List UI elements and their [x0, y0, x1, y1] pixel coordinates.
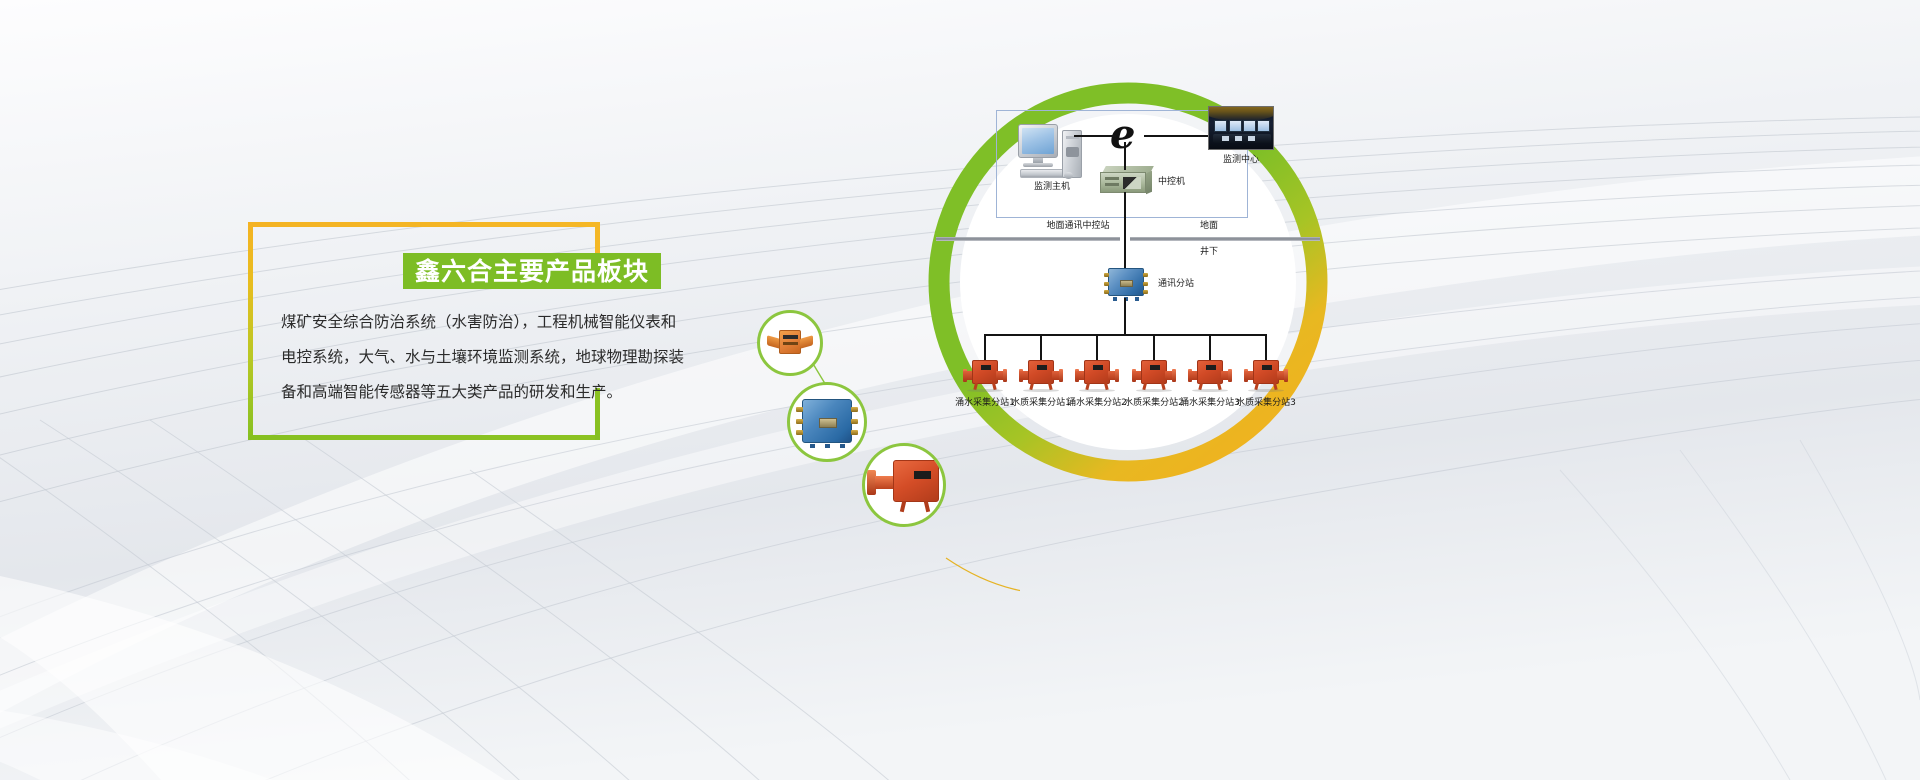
ceiling-light [1208, 106, 1274, 121]
bus-bar [984, 334, 1266, 336]
pc-tower-icon [1062, 130, 1082, 178]
central-control-machine-icon [1100, 166, 1152, 194]
section-title-banner: 鑫六合主要产品板块 [403, 253, 661, 289]
monitor-host-icon [1018, 124, 1084, 180]
product-bubble-orange[interactable] [757, 310, 823, 376]
wall-screen-1 [1214, 120, 1227, 132]
collection-substation-icon [1019, 358, 1063, 392]
description-line-1: 煤矿安全综合防治系统（水害防治），工程机械智能仪表和 [281, 305, 711, 340]
wall-screen-4 [1257, 120, 1270, 132]
label-substation-6: 水质采集分站3 [1236, 399, 1296, 408]
collection-substation-icon [1075, 358, 1119, 392]
connector-knob [1104, 282, 1109, 286]
frame-edge-bottom [248, 435, 600, 440]
wall-screen-2 [1229, 120, 1242, 132]
wall-screen-3 [1243, 120, 1256, 132]
server-side-face [1146, 171, 1152, 194]
blue-device-icon [796, 399, 858, 445]
substation-leg [1113, 297, 1117, 301]
label-central-control-machine: 中控机 [1158, 178, 1185, 187]
wire-drop-5 [1209, 334, 1211, 360]
product-bubble-blue[interactable] [787, 382, 867, 462]
label-monitor-center: 监测中心 [1223, 156, 1259, 165]
communication-substation-icon [1104, 268, 1148, 298]
ground-line-right [1130, 237, 1320, 241]
monitor-center-image [1208, 106, 1274, 150]
label-communication-substation: 通讯分站 [1158, 280, 1194, 289]
page-title: 鑫六合主要产品板块 [415, 259, 649, 284]
wire-network-to-center [1144, 135, 1208, 137]
connector-knob [1104, 290, 1109, 294]
connector-knob [1104, 273, 1109, 277]
wire-drop-3 [1096, 334, 1098, 360]
wire-substation-down [1124, 298, 1126, 336]
label-substation-4: 水质采集分站2 [1124, 399, 1184, 408]
wire-drop-6 [1265, 334, 1267, 360]
product-bubble-red[interactable] [862, 443, 946, 527]
connector-knob [1143, 273, 1148, 277]
wire-host-to-network [1074, 135, 1116, 137]
label-substation-3: 涌水采集分站2 [1067, 399, 1127, 408]
frame-edge-top [248, 222, 600, 227]
red-device-icon [867, 458, 941, 512]
label-ground-station: 地面通讯中控站 [1046, 222, 1109, 231]
label-monitor-host: 监测主机 [1034, 183, 1070, 192]
wire-drop-2 [1040, 334, 1042, 360]
monitor-base [1023, 163, 1053, 167]
label-surface: 地面 [1200, 222, 1218, 231]
substation-body [1108, 268, 1144, 296]
crt-screen-icon [1018, 124, 1058, 158]
collection-substation-icon [1188, 358, 1232, 392]
connector-knob [1143, 290, 1148, 294]
hero-banner: 鑫六合主要产品板块 煤矿安全综合防治系统（水害防治），工程机械智能仪表和 电控系… [0, 0, 1920, 780]
wire-drop-4 [1153, 334, 1155, 360]
frame-edge-left [248, 222, 253, 440]
description-line-2: 电控系统，大气、水与土壤环境监测系统，地球物理勘探装 [281, 340, 711, 375]
orange-device-icon [768, 330, 812, 356]
collection-substation-icon [1132, 358, 1176, 392]
keyboard-icon [1020, 169, 1064, 178]
label-substation-2: 水质采集分站1 [1011, 399, 1071, 408]
description-line-3: 备和高端智能传感器等五大类产品的研发和生产。 [281, 375, 711, 410]
mouse-icon [1064, 172, 1073, 179]
collection-substation-icon [1244, 358, 1288, 392]
wire-network-to-server [1124, 142, 1126, 170]
substation-leg [1135, 297, 1139, 301]
label-substation-5: 涌水采集分站3 [1180, 399, 1240, 408]
server-front-face [1100, 172, 1146, 193]
ground-line-left [936, 237, 1120, 241]
connector-knob [1143, 282, 1148, 286]
control-desk [1213, 134, 1271, 143]
section-description: 煤矿安全综合防治系统（水害防治），工程机械智能仪表和 电控系统，大气、水与土壤环… [281, 305, 711, 410]
label-underground: 井下 [1200, 248, 1218, 257]
